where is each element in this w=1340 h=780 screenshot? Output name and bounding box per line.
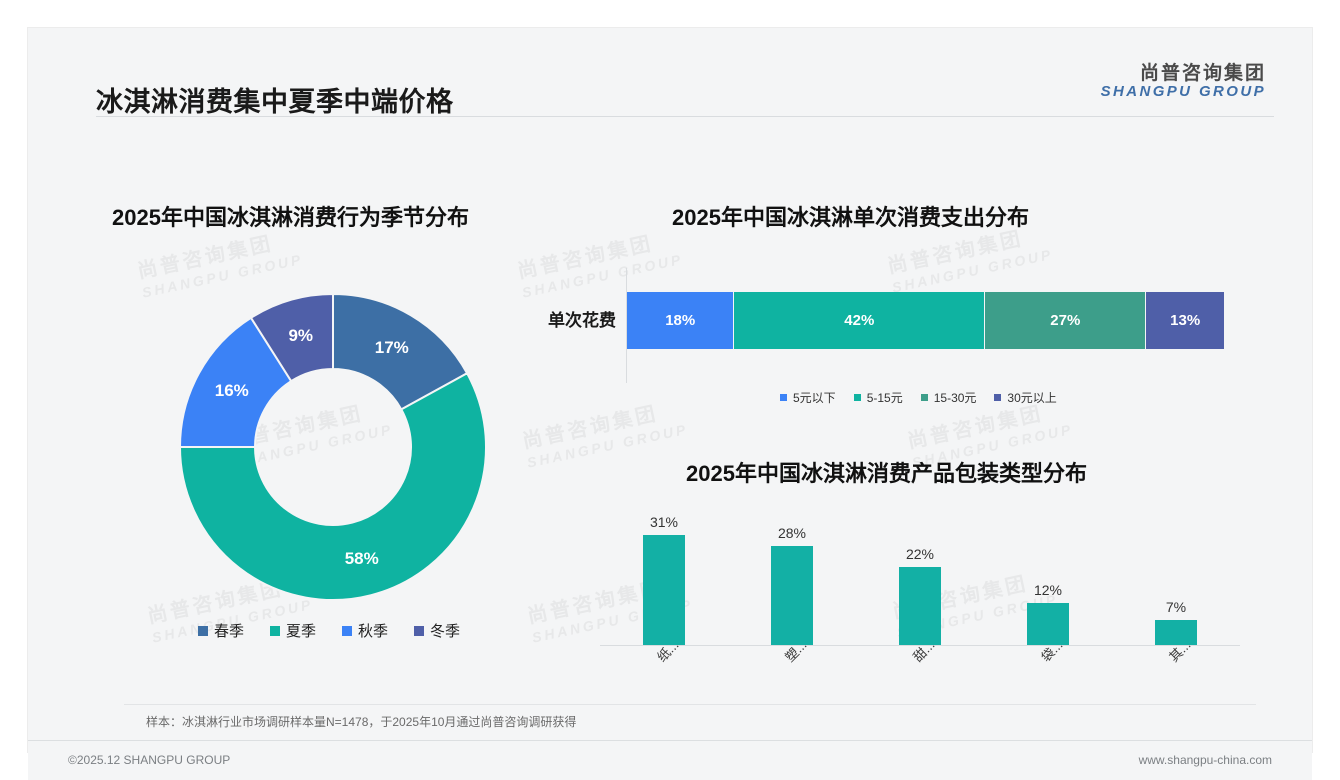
legend-item-label: 春季 — [214, 620, 244, 641]
legend-item-label: 秋季 — [358, 620, 388, 641]
column-chart-title: 2025年中国冰淇淋消费产品包装类型分布 — [686, 456, 1087, 488]
slide-header: 冰淇淋消费集中夏季中端价格 尚普咨询集团 SHANGPU GROUP — [28, 28, 1312, 118]
legend-item-label: 5-15元 — [867, 389, 903, 406]
column-chart-bar-group[interactable]: 28% — [728, 497, 856, 645]
column-category-cell: 塑... — [728, 646, 856, 708]
legend-swatch-icon — [994, 394, 1001, 401]
legend-swatch-icon — [414, 626, 424, 636]
stacked-bar-segment[interactable]: 13% — [1146, 292, 1224, 349]
legend-item[interactable]: 30元以上 — [994, 389, 1056, 406]
column-chart-category-labels: 纸...塑...甜...袋...其... — [600, 646, 1240, 708]
column-chart-bar-group[interactable]: 7% — [1112, 497, 1240, 645]
column-chart: 31%28%22%12%7% 纸...塑...甜...袋...其... — [600, 498, 1240, 708]
copyright-text: ©2025.12 SHANGPU GROUP — [68, 753, 230, 767]
watermark-line-2: SHANGPU GROUP — [526, 421, 690, 472]
stacked-bar-legend: 5元以下5-15元15-30元30元以上 — [780, 389, 1057, 406]
logo-chinese-text: 尚普咨询集团 — [1101, 64, 1266, 84]
column-bar-value-label: 22% — [906, 546, 934, 562]
legend-item[interactable]: 春季 — [198, 620, 244, 641]
column-bar-value-label: 31% — [650, 514, 678, 530]
column-category-cell: 纸... — [600, 646, 728, 708]
donut-slice-value: 17% — [375, 338, 409, 358]
legend-swatch-icon — [921, 394, 928, 401]
legend-item-label: 15-30元 — [934, 389, 977, 406]
logo-english-text: SHANGPU GROUP — [1101, 84, 1266, 100]
donut-chart-title: 2025年中国冰淇淋消费行为季节分布 — [112, 200, 469, 232]
legend-item[interactable]: 秋季 — [342, 620, 388, 641]
stacked-bar-segment[interactable]: 42% — [734, 292, 985, 349]
column-chart-bar-group[interactable]: 22% — [856, 497, 984, 645]
column-chart-bar-group[interactable]: 12% — [984, 497, 1112, 645]
donut-slice-value: 58% — [345, 549, 379, 569]
legend-item[interactable]: 冬季 — [414, 620, 460, 641]
stacked-bar-segment[interactable]: 27% — [985, 292, 1146, 349]
column-bar[interactable] — [771, 546, 813, 645]
legend-item[interactable]: 夏季 — [270, 620, 316, 641]
watermark-line-1: 尚普咨询集团 — [520, 396, 686, 455]
column-category-cell: 袋... — [984, 646, 1112, 708]
page-title: 冰淇淋消费集中夏季中端价格 — [96, 80, 454, 119]
stacked-bar-row-label: 单次花费 — [528, 306, 616, 331]
slide-footer: ©2025.12 SHANGPU GROUP www.shangpu-china… — [28, 741, 1312, 780]
column-bar[interactable] — [899, 567, 941, 645]
legend-item-label: 30元以上 — [1007, 389, 1056, 406]
donut-legend: 春季夏季秋季冬季 — [198, 620, 460, 641]
legend-item[interactable]: 5-15元 — [854, 389, 903, 406]
column-bar-value-label: 28% — [778, 525, 806, 541]
stacked-bar-row: 18%42%27%13% — [627, 292, 1224, 349]
brand-logo: 尚普咨询集团 SHANGPU GROUP — [1101, 64, 1266, 100]
website-url[interactable]: www.shangpu-china.com — [1139, 753, 1272, 767]
watermark: 尚普咨询集团 SHANGPU GROUP — [520, 396, 689, 472]
donut-slice-value: 9% — [288, 326, 313, 346]
legend-swatch-icon — [198, 626, 208, 636]
slide-canvas: 冰淇淋消费集中夏季中端价格 尚普咨询集团 SHANGPU GROUP 尚普咨询集… — [0, 0, 1340, 780]
column-bar-value-label: 7% — [1166, 599, 1186, 615]
legend-swatch-icon — [780, 394, 787, 401]
column-category-cell: 甜... — [856, 646, 984, 708]
legend-item-label: 夏季 — [286, 620, 316, 641]
stacked-bar-chart-title: 2025年中国冰淇淋单次消费支出分布 — [672, 200, 1029, 232]
legend-swatch-icon — [270, 626, 280, 636]
footnote-text: 样本：冰淇淋行业市场调研样本量N=1478，于2025年10月通过尚普咨询调研获… — [146, 713, 576, 730]
column-chart-bars: 31%28%22%12%7% — [600, 497, 1240, 645]
stacked-bar-segment[interactable]: 18% — [627, 292, 734, 349]
legend-item[interactable]: 15-30元 — [921, 389, 977, 406]
legend-item-label: 5元以下 — [793, 389, 836, 406]
column-category-cell: 其... — [1112, 646, 1240, 708]
column-bar[interactable] — [643, 535, 685, 645]
column-bar-value-label: 12% — [1034, 582, 1062, 598]
donut-chart-svg — [176, 290, 490, 604]
legend-item[interactable]: 5元以下 — [780, 389, 836, 406]
donut-chart: 17%58%16%9% — [176, 290, 490, 604]
legend-swatch-icon — [854, 394, 861, 401]
stacked-bar-chart: 单次花费 18%42%27%13% — [528, 268, 1238, 383]
column-chart-bar-group[interactable]: 31% — [600, 497, 728, 645]
donut-slice-value: 16% — [215, 381, 249, 401]
legend-swatch-icon — [342, 626, 352, 636]
legend-item-label: 冬季 — [430, 620, 460, 641]
slide-page: 冰淇淋消费集中夏季中端价格 尚普咨询集团 SHANGPU GROUP 尚普咨询集… — [28, 28, 1312, 752]
footnote-divider — [124, 704, 1256, 705]
watermark-line-1: 尚普咨询集团 — [135, 226, 301, 285]
header-divider — [96, 116, 1274, 117]
